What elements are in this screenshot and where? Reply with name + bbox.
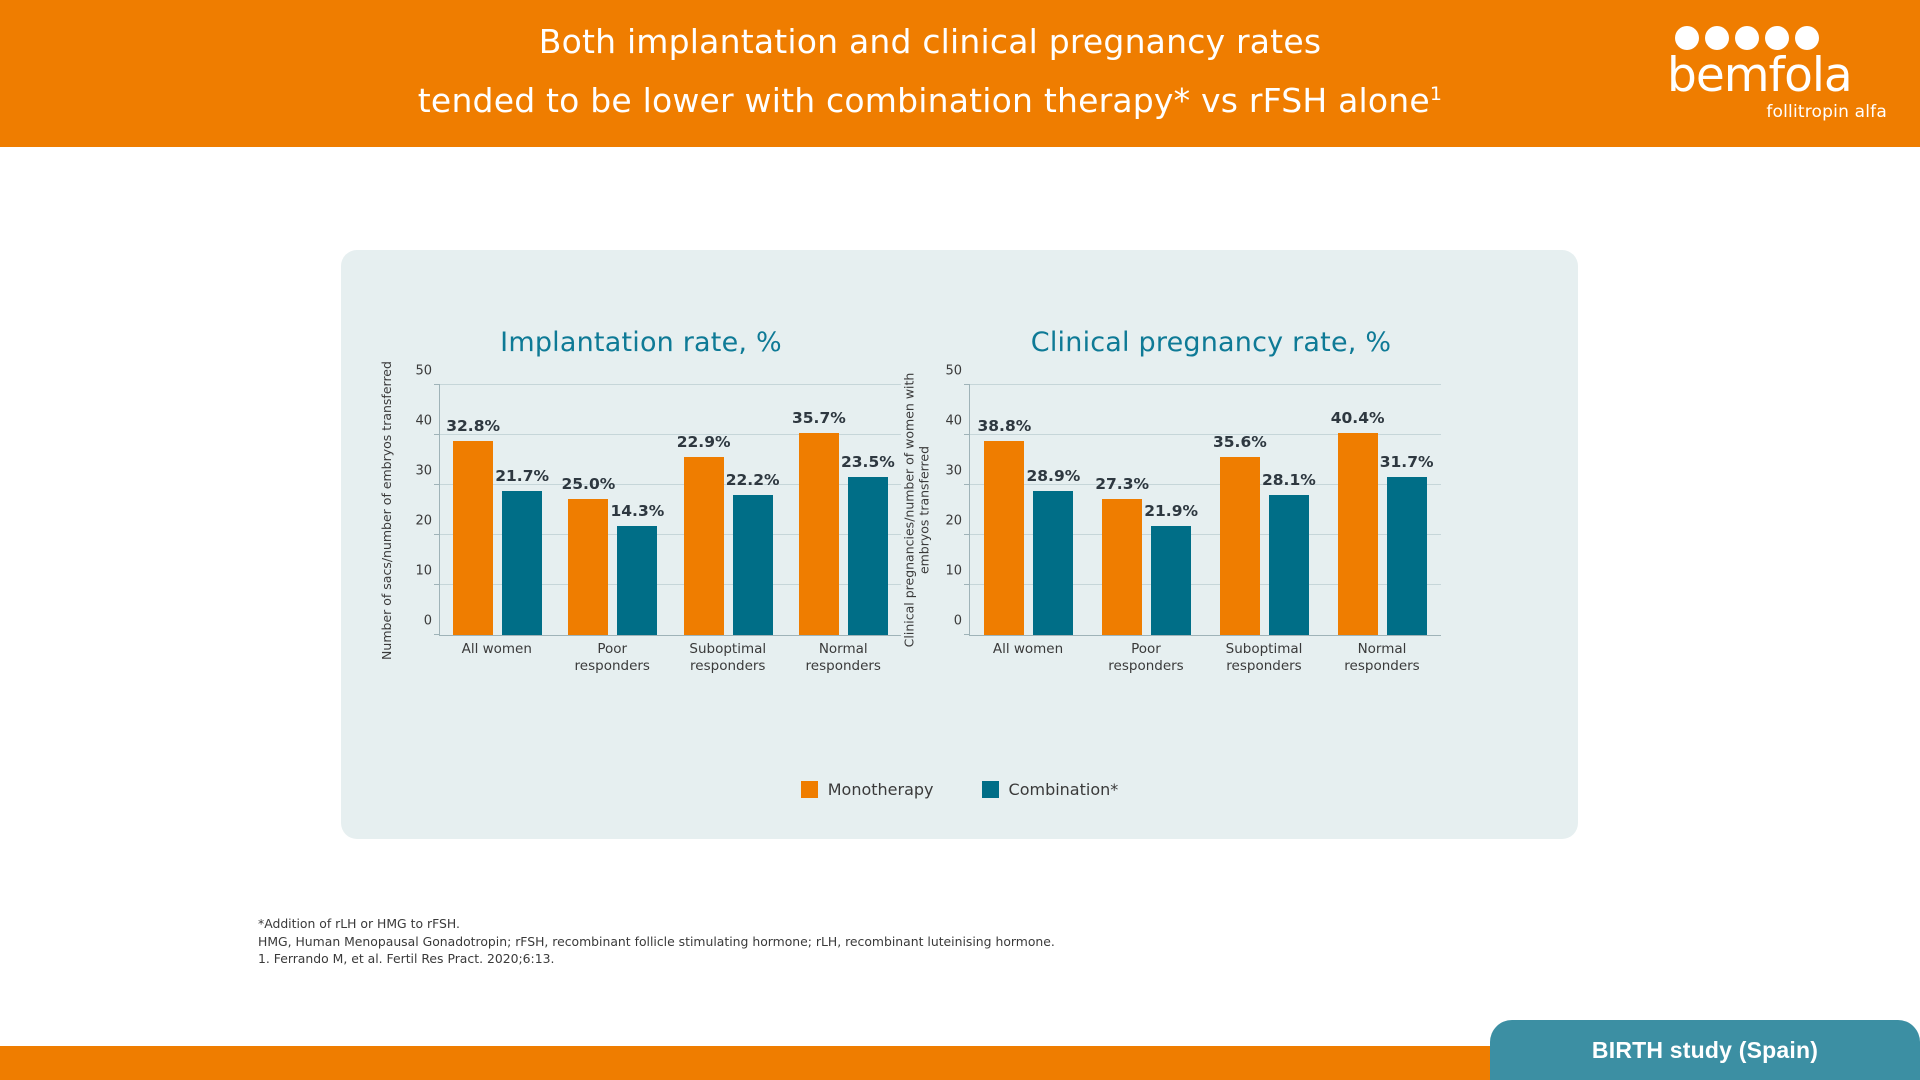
bar-group: 35.7%23.5%	[786, 385, 901, 635]
bar-group: 22.9%22.2%	[671, 385, 786, 635]
bar-fill	[848, 477, 888, 636]
y-axis-tick-label: 50	[415, 363, 432, 378]
bar-fill	[733, 495, 773, 636]
page-title: Both implantation and clinical pregnancy…	[260, 16, 1600, 127]
x-axis-tick-label-line: responders	[1087, 658, 1205, 675]
bar-fill	[1102, 499, 1142, 636]
bar-group: 40.4%31.7%	[1323, 385, 1441, 635]
y-axis-label-text: Clinical pregnancies/number of women wit…	[901, 373, 931, 648]
bar-value-label: 21.9%	[1144, 502, 1198, 520]
bar-group: 32.8%21.7%	[440, 385, 555, 635]
bar-fill	[984, 441, 1024, 635]
charts-panel: Implantation rate, % Clinical pregnancy …	[341, 250, 1578, 839]
y-axis-tick-label: 40	[945, 413, 962, 428]
x-axis-tick-label: All women	[439, 641, 555, 675]
x-axis-tick-label: Normalresponders	[1323, 641, 1441, 675]
x-axis-tick-label: Poorresponders	[1087, 641, 1205, 675]
y-axis-tick-label: 10	[945, 563, 962, 578]
y-axis-label: Clinical pregnancies/number of women wit…	[907, 385, 925, 635]
legend-item[interactable]: Combination*	[982, 780, 1119, 799]
plot-area: 0102030405032.8%21.7%25.0%14.3%22.9%22.2…	[439, 385, 901, 636]
bar-value-label: 31.7%	[1380, 453, 1434, 471]
footnote-line-1: *Addition of rLH or HMG to rFSH.	[258, 915, 1358, 933]
chart-implantation-rate: Number of sacs/number of embryos transfe…	[381, 385, 901, 715]
legend-item[interactable]: Monotherapy	[801, 780, 934, 799]
y-axis-tick-label: 10	[415, 563, 432, 578]
bar-group: 35.6%28.1%	[1206, 385, 1324, 635]
footnotes: *Addition of rLH or HMG to rFSH. HMG, Hu…	[258, 915, 1358, 968]
y-axis-label-text: Number of sacs/number of embryos transfe…	[379, 361, 394, 660]
chart-clinical-pregnancy-rate: Clinical pregnancies/number of women wit…	[911, 385, 1441, 715]
x-axis-tick-label: Suboptimalresponders	[670, 641, 786, 675]
bar-group: 25.0%14.3%	[555, 385, 670, 635]
page-title-line-1: Both implantation and clinical pregnancy…	[260, 16, 1600, 68]
x-axis-tick-label-line: Poor	[555, 641, 671, 658]
bar-fill	[453, 441, 493, 635]
bar-value-label: 32.8%	[446, 417, 500, 435]
x-axis-tick-label-line: Normal	[1323, 641, 1441, 658]
study-badge-label: BIRTH study (Spain)	[1592, 1037, 1818, 1064]
x-axis-labels: All womenPoorrespondersSuboptimalrespond…	[439, 641, 901, 675]
x-axis-tick-label-line: responders	[670, 658, 786, 675]
bar-group: 27.3%21.9%	[1088, 385, 1206, 635]
bar-group: 38.8%28.9%	[970, 385, 1088, 635]
bar-value-label: 35.7%	[792, 409, 846, 427]
bar-value-label: 22.9%	[677, 433, 731, 451]
y-axis-tick-label: 0	[954, 613, 962, 628]
x-axis-tick-label-line: responders	[786, 658, 902, 675]
bar-groups: 32.8%21.7%25.0%14.3%22.9%22.2%35.7%23.5%	[440, 385, 901, 635]
y-axis-tick-label: 30	[945, 463, 962, 478]
bar-value-label: 21.7%	[495, 467, 549, 485]
x-axis-tick-label-line: All women	[439, 641, 555, 658]
x-axis-tick-label-line: Suboptimal	[670, 641, 786, 658]
header-banner: Both implantation and clinical pregnancy…	[0, 0, 1920, 147]
y-axis-tick-label: 0	[424, 613, 432, 628]
logo-tagline: follitropin alfa	[1669, 102, 1887, 122]
bar-fill	[799, 433, 839, 635]
y-axis-tick-label: 50	[945, 363, 962, 378]
bar-value-label: 22.2%	[726, 471, 780, 489]
x-axis-labels: All womenPoorrespondersSuboptimalrespond…	[969, 641, 1441, 675]
footer-bar	[0, 1046, 1490, 1080]
logo-dots-icon	[1675, 26, 1819, 50]
legend-swatch-icon	[982, 781, 999, 798]
footnote-line-3: 1. Ferrando M, et al. Fertil Res Pract. …	[258, 950, 1358, 968]
bar-value-label: 28.9%	[1026, 467, 1080, 485]
bar-fill	[1338, 433, 1378, 635]
bar-fill	[1151, 526, 1191, 636]
chart-legend: MonotherapyCombination*	[341, 780, 1578, 799]
bar-value-label: 14.3%	[610, 502, 664, 520]
x-axis-tick-label-line: All women	[969, 641, 1087, 658]
bar-fill	[502, 491, 542, 636]
bar-fill	[568, 499, 608, 636]
logo-dot-1	[1675, 26, 1699, 50]
chart-title-clinical-pregnancy: Clinical pregnancy rate, %	[961, 327, 1461, 358]
logo-wordmark: bemfola	[1667, 50, 1852, 102]
x-axis-tick-label-line: responders	[1205, 658, 1323, 675]
study-badge: BIRTH study (Spain)	[1490, 1020, 1920, 1080]
x-axis-tick-label: Normalresponders	[786, 641, 902, 675]
legend-item-label: Monotherapy	[828, 780, 934, 799]
bar-fill	[1220, 457, 1260, 635]
bar-fill	[1033, 491, 1073, 636]
page-title-line-2: tended to be lower with combination ther…	[260, 68, 1600, 127]
footnote-line-2: HMG, Human Menopausal Gonadotropin; rFSH…	[258, 933, 1358, 951]
plot-area: 0102030405038.8%28.9%27.3%21.9%35.6%28.1…	[969, 385, 1441, 636]
bar-fill	[684, 457, 724, 635]
x-axis-tick-label-line: Poor	[1087, 641, 1205, 658]
y-axis-tick-label: 20	[945, 513, 962, 528]
logo-dot-5	[1795, 26, 1819, 50]
y-axis-label: Number of sacs/number of embryos transfe…	[377, 385, 395, 635]
y-axis-tick-label: 30	[415, 463, 432, 478]
chart-title-implantation: Implantation rate, %	[401, 327, 881, 358]
legend-item-label: Combination*	[1009, 780, 1119, 799]
x-axis-tick-label-line: Normal	[786, 641, 902, 658]
logo-dot-3	[1735, 26, 1759, 50]
bar-groups: 38.8%28.9%27.3%21.9%35.6%28.1%40.4%31.7%	[970, 385, 1441, 635]
logo-dot-2	[1705, 26, 1729, 50]
page-title-line-2-text: tended to be lower with combination ther…	[418, 81, 1430, 120]
bar-value-label: 35.6%	[1213, 433, 1267, 451]
bar-value-label: 38.8%	[977, 417, 1031, 435]
x-axis-tick-label: All women	[969, 641, 1087, 675]
bemfola-logo: bemfola follitropin alfa	[1645, 22, 1885, 132]
bar-fill	[1387, 477, 1427, 636]
bar-fill	[617, 526, 657, 636]
x-axis-tick-label-line: responders	[555, 658, 671, 675]
y-axis-tick-label: 40	[415, 413, 432, 428]
logo-dot-4	[1765, 26, 1789, 50]
bar-value-label: 23.5%	[841, 453, 895, 471]
legend-swatch-icon	[801, 781, 818, 798]
bar-value-label: 28.1%	[1262, 471, 1316, 489]
bar-value-label: 40.4%	[1331, 409, 1385, 427]
x-axis-tick-label-line: responders	[1323, 658, 1441, 675]
bar-fill	[1269, 495, 1309, 636]
bar-value-label: 27.3%	[1095, 475, 1149, 493]
x-axis-tick-label-line: Suboptimal	[1205, 641, 1323, 658]
x-axis-tick-label: Poorresponders	[555, 641, 671, 675]
x-axis-tick-label: Suboptimalresponders	[1205, 641, 1323, 675]
y-axis-tick-label: 20	[415, 513, 432, 528]
bar-value-label: 25.0%	[561, 475, 615, 493]
page-title-reference-marker: 1	[1430, 83, 1442, 105]
